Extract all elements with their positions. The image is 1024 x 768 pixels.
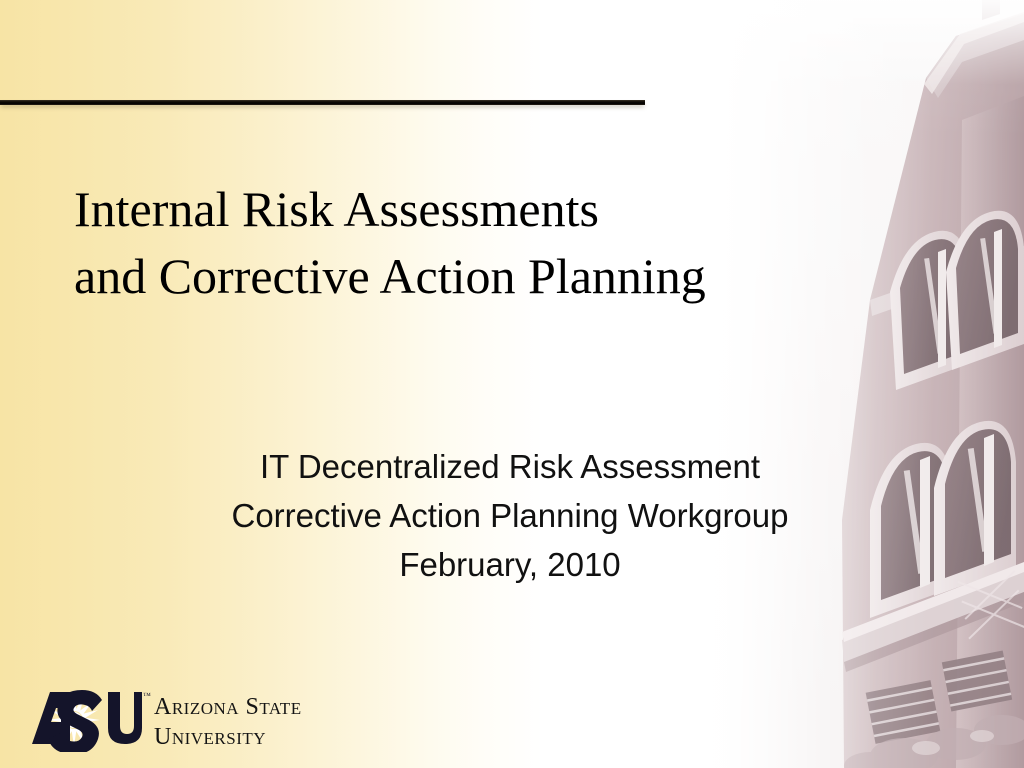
asu-wordmark-line-2: University [154,724,266,750]
slide-subtitle-line-3: February, 2010 [120,540,900,589]
old-main-building-photo [694,0,1024,768]
title-divider-rule [0,100,645,105]
slide-title-line-1: Internal Risk Assessments [74,176,874,243]
asu-logo: ™ Arizona State University [30,684,330,752]
trademark-symbol: ™ [143,691,151,700]
slide-title: Internal Risk Assessments and Corrective… [74,176,874,310]
slide-subtitle-line-2: Corrective Action Planning Workgroup [120,491,900,540]
presentation-slide: Internal Risk Assessments and Corrective… [0,0,1024,768]
slide-subtitle-line-1: IT Decentralized Risk Assessment [120,442,900,491]
asu-wordmark-line-1: Arizona State [154,694,302,720]
slide-title-line-2: and Corrective Action Planning [74,243,874,310]
asu-monogram-icon [32,690,142,752]
slide-subtitle: IT Decentralized Risk Assessment Correct… [120,442,900,589]
